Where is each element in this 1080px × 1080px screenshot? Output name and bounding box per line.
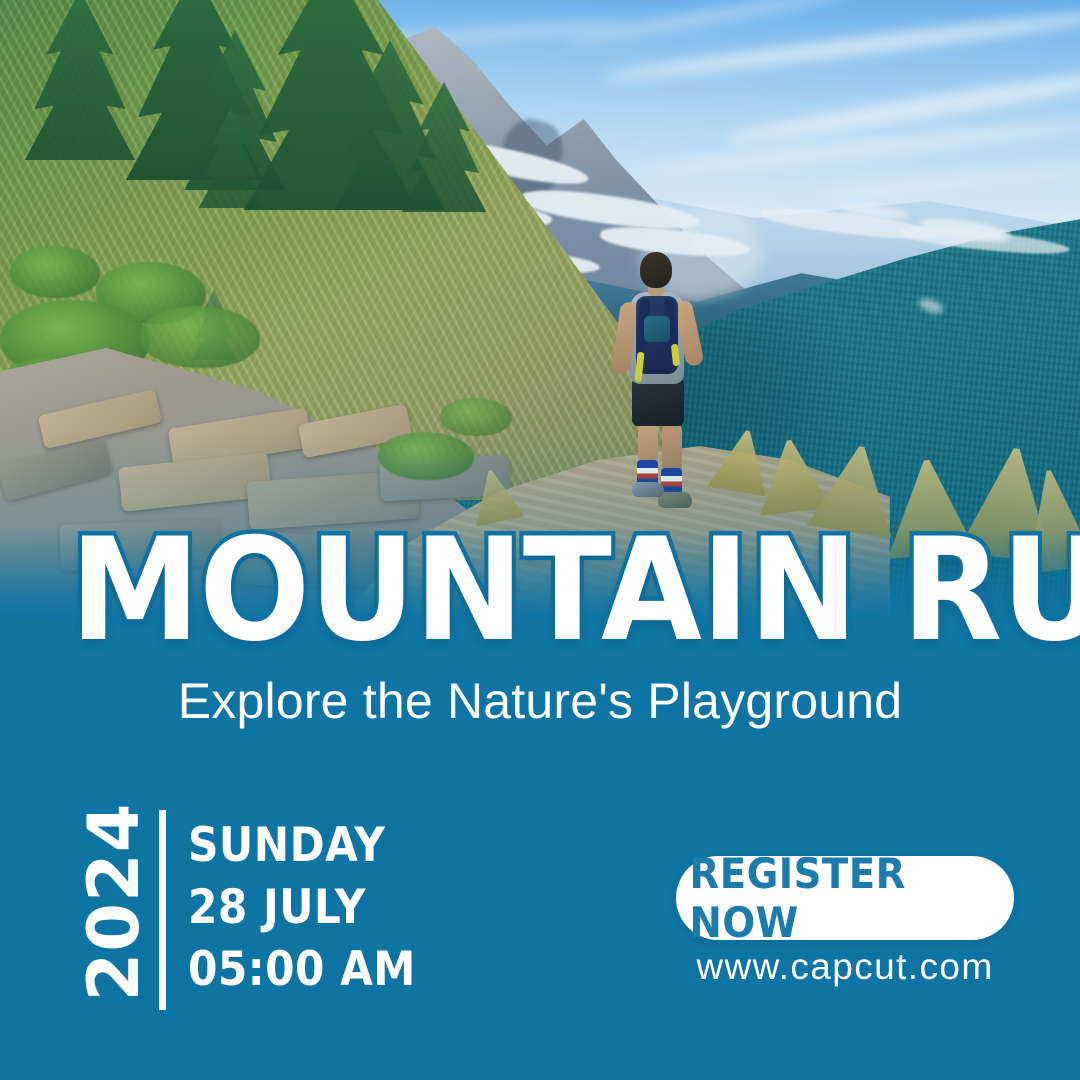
event-day: SUNDAY: [188, 815, 416, 877]
vertical-divider: [159, 810, 166, 1010]
runner-shoe: [658, 492, 692, 508]
event-details: SUNDAY 28 JULY 05:00 AM: [188, 815, 416, 1001]
runner-shoe: [632, 482, 664, 497]
event-time: 05:00 AM: [188, 939, 416, 1001]
event-date: 28 JULY: [188, 877, 416, 939]
shrub: [440, 398, 512, 436]
poster-canvas: MOUNTAIN RUNNING Explore the Nature's Pl…: [0, 0, 1080, 1080]
website-url[interactable]: www.capcut.com: [676, 946, 1014, 988]
trail-runner: [608, 252, 718, 510]
page-title: MOUNTAIN RUNNING: [70, 520, 935, 662]
page-subtitle: Explore the Nature's Playground: [0, 672, 1080, 730]
runner-sock: [661, 468, 682, 494]
runner-vest-pouch: [644, 316, 670, 342]
register-now-label: REGISTER NOW: [690, 849, 1001, 947]
shrub: [10, 246, 100, 298]
runner-head: [640, 252, 672, 288]
register-now-button[interactable]: REGISTER NOW: [676, 856, 1014, 940]
shrub: [140, 306, 260, 368]
shrub: [378, 432, 474, 480]
